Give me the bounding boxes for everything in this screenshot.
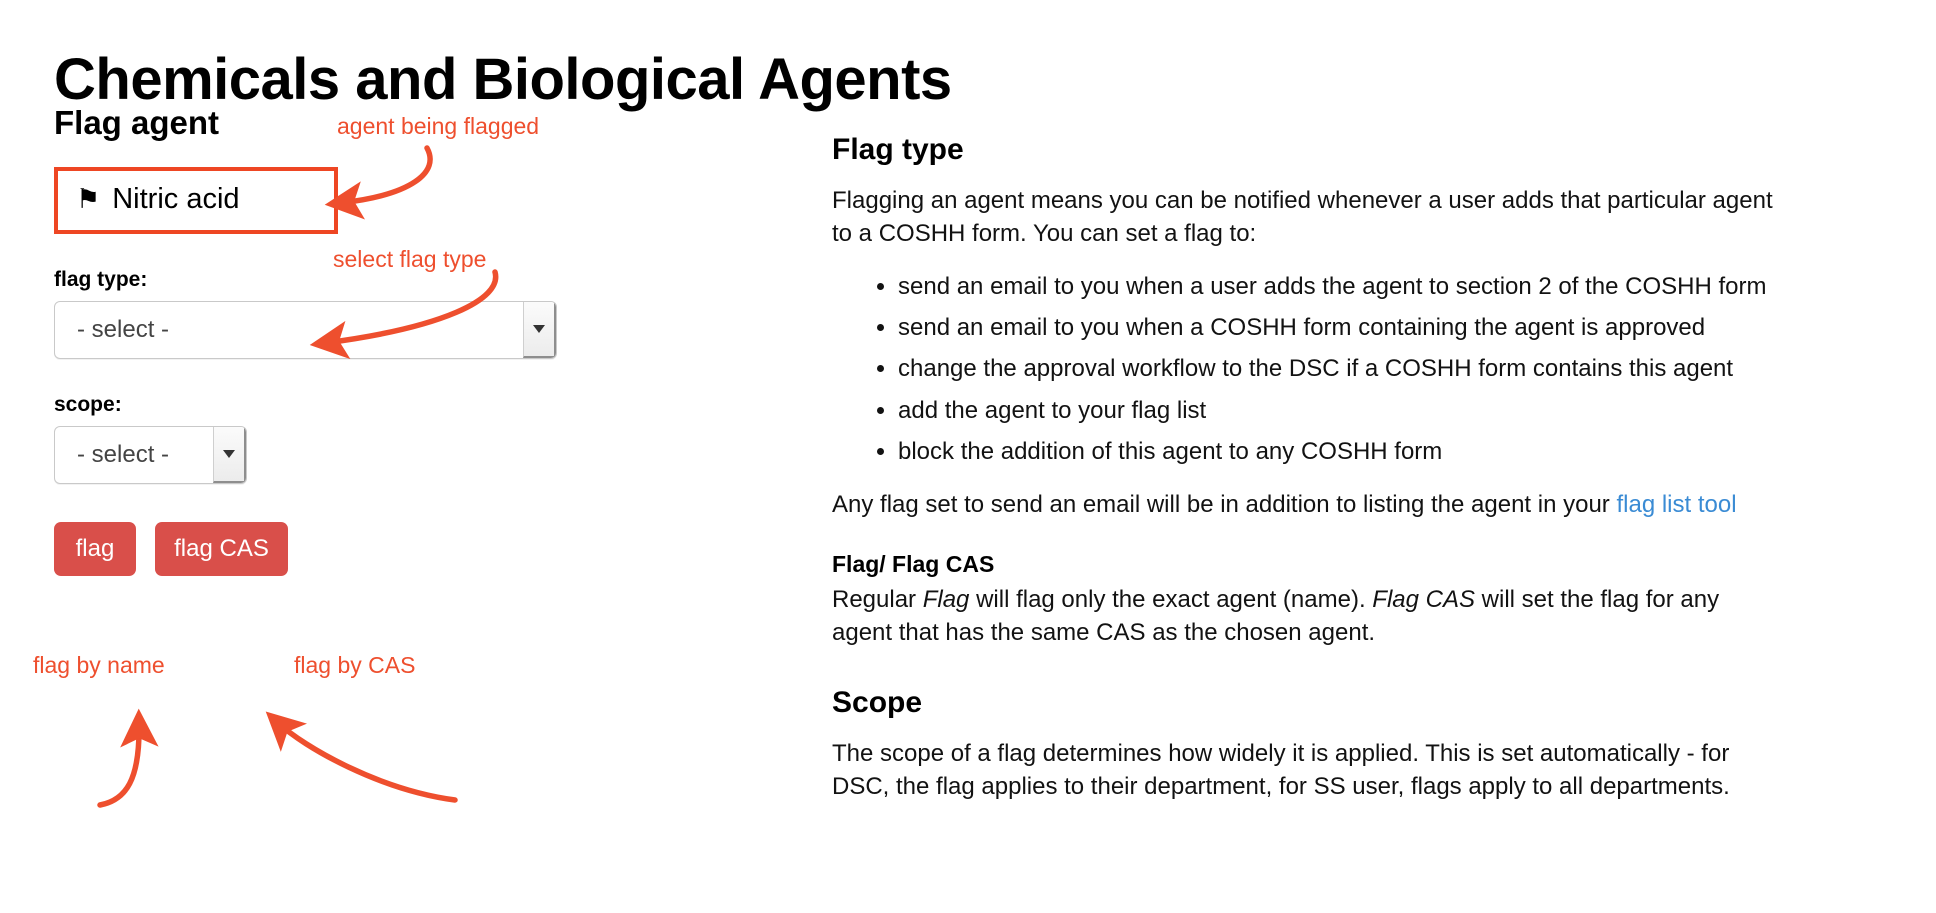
doc-scope-line-1: The scope of a flag determines how widel… (832, 737, 1936, 770)
doc-flag-cas-line-1: Regular Flag will flag only the exact ag… (832, 583, 1936, 616)
list-item: send an email to you when a COSHH form c… (898, 311, 1936, 344)
scope-select[interactable]: - select - (54, 426, 247, 484)
flag-type-select-wrap[interactable]: - select - (54, 301, 557, 359)
doc-intro-line-1: Flagging an agent means you can be notif… (832, 184, 1936, 217)
flag-list-tool-link[interactable]: flag list tool (1616, 491, 1736, 518)
flag-button[interactable]: flag (54, 522, 136, 576)
doc-scope-line-2: DSC, the flag applies to their departmen… (832, 770, 1936, 803)
annotation-agent-being-flagged: agent being flagged (337, 115, 539, 138)
flagged-agent-box: ⚑ Nitric acid (54, 167, 338, 234)
doc-email-note-text: Any flag set to send an email will be in… (832, 491, 1616, 518)
list-item: change the approval workflow to the DSC … (898, 352, 1936, 385)
list-item: block the addition of this agent to any … (898, 435, 1936, 468)
doc-paragraph-email-note: Any flag set to send an email will be in… (832, 488, 1936, 521)
doc-heading-scope: Scope (832, 685, 1936, 721)
scope-select-wrap[interactable]: - select - (54, 426, 247, 484)
flag-cas-button[interactable]: flag CAS (155, 522, 288, 576)
scope-selected-value: - select - (55, 427, 213, 483)
annotation-flag-by-cas: flag by CAS (294, 654, 415, 677)
doc-intro-line-2: to a COSHH form. You can set a flag to: (832, 217, 1936, 250)
list-item: add the agent to your flag list (898, 394, 1936, 427)
doc-flag-cas-b: will flag only the exact agent (name). (969, 586, 1372, 613)
doc-flag-type-bullets: send an email to you when a user adds th… (832, 270, 1936, 468)
arrow-to-flag-button (100, 724, 139, 805)
doc-flag-cas-c: will set the flag for any (1475, 586, 1719, 613)
doc-flag-cas-a: Regular (832, 586, 923, 613)
list-item: send an email to you when a user adds th… (898, 270, 1936, 303)
scope-dropdown-button[interactable] (213, 427, 246, 483)
chevron-down-icon (223, 450, 235, 458)
form-actions: flag flag CAS (54, 522, 694, 576)
flag-type-select[interactable]: - select - (54, 301, 557, 359)
arrow-to-flag-cas-button (277, 722, 455, 800)
doc-heading-flag-cas: Flag/ Flag CAS (832, 549, 1936, 581)
flag-icon: ⚑ (76, 186, 100, 213)
doc-paragraph-flag-cas: Regular Flag will flag only the exact ag… (832, 583, 1936, 649)
doc-heading-flag-type: Flag type (832, 132, 1936, 168)
doc-paragraph-scope: The scope of a flag determines how widel… (832, 737, 1936, 803)
annotation-select-flag-type: select flag type (333, 248, 486, 271)
flag-type-dropdown-button[interactable] (523, 302, 556, 358)
annotation-flag-by-name: flag by name (33, 654, 165, 677)
doc-paragraph-flag-type-intro: Flagging an agent means you can be notif… (832, 184, 1936, 250)
documentation-panel: Flag type Flagging an agent means you ca… (832, 132, 1936, 823)
doc-flag-cas-line-2: agent that has the same CAS as the chose… (832, 616, 1936, 649)
doc-flag-cas-em1: Flag (923, 586, 970, 613)
doc-flag-cas-em2: Flag CAS (1372, 586, 1475, 613)
flag-type-selected-value: - select - (55, 302, 523, 358)
flag-agent-form: Flag agent ⚑ Nitric acid flag type: - se… (54, 103, 694, 576)
chevron-down-icon (533, 325, 545, 333)
screenshot-root: Chemicals and Biological Agents Flag age… (0, 0, 1936, 913)
scope-label: scope: (54, 393, 694, 417)
flagged-agent-name: Nitric acid (112, 185, 239, 214)
